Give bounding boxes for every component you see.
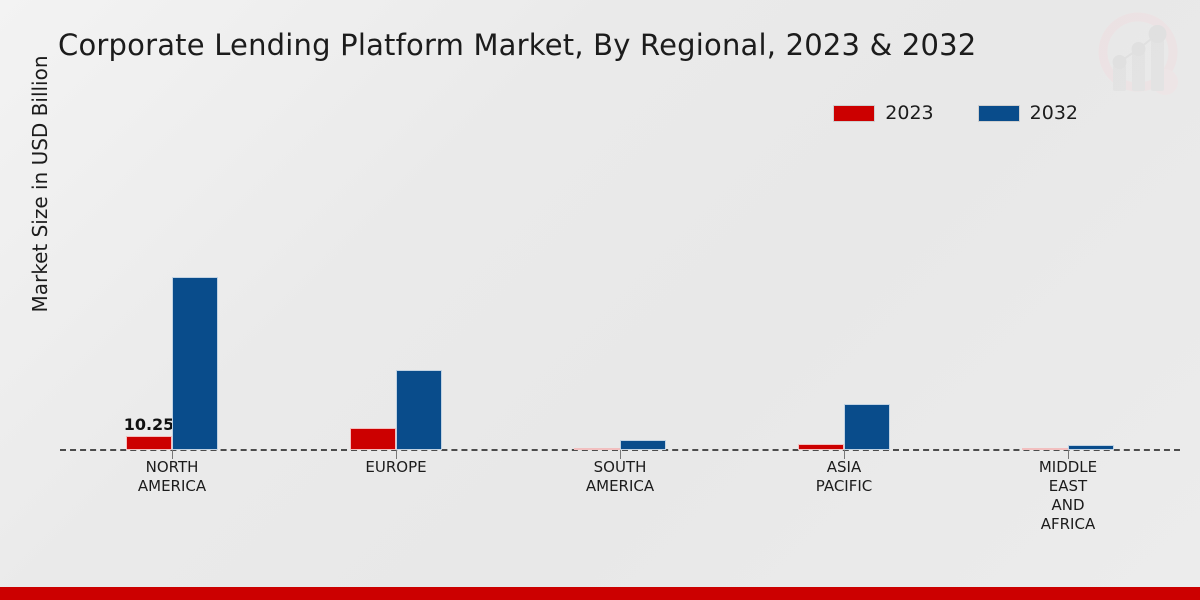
legend-swatch-2023-icon	[833, 105, 875, 122]
bar-group	[956, 160, 1180, 450]
market-research-logo-watermark	[1086, 8, 1190, 104]
bar-2023-asia-pacific[interactable]	[798, 444, 844, 450]
x-axis-label-line: AMERICA	[508, 477, 732, 496]
legend-item-2023[interactable]: 2023	[833, 102, 933, 124]
bar-group	[732, 160, 956, 450]
x-axis-label-line: EAST	[956, 477, 1180, 496]
bar-pair	[1022, 160, 1114, 450]
chart-figure: Corporate Lending Platform Market, By Re…	[0, 0, 1200, 600]
bar-2023-north-america[interactable]: 10.25	[126, 436, 172, 450]
bar-2032-asia-pacific[interactable]	[844, 404, 890, 450]
bar-group	[508, 160, 732, 450]
footer-accent-bar	[0, 587, 1200, 600]
x-axis-label-asia-pacific: ASIAPACIFIC	[732, 458, 956, 534]
legend-swatch-2032-icon	[978, 105, 1020, 122]
chart-legend: 2023 2032	[833, 102, 1078, 124]
bar-2023-europe[interactable]	[350, 428, 396, 450]
chart-title: Corporate Lending Platform Market, By Re…	[58, 28, 976, 62]
bar-2032-south-america[interactable]	[620, 440, 666, 450]
x-axis-category-labels: NORTHAMERICAEUROPESOUTHAMERICAASIAPACIFI…	[60, 458, 1180, 534]
bar-groups: 10.25	[60, 160, 1180, 450]
x-axis-label-south-america: SOUTHAMERICA	[508, 458, 732, 534]
x-axis-label-line: AFRICA	[956, 515, 1180, 534]
bar-pair	[574, 160, 666, 450]
x-axis-label-line: AND	[956, 496, 1180, 515]
bar-2023-south-america[interactable]	[574, 448, 620, 450]
bar-group: 10.25	[60, 160, 284, 450]
x-axis-label-line: PACIFIC	[732, 477, 956, 496]
x-axis-label-line: SOUTH	[508, 458, 732, 477]
x-axis-label-line: EUROPE	[284, 458, 508, 477]
legend-item-2032[interactable]: 2032	[978, 102, 1078, 124]
bar-2032-north-america[interactable]	[172, 277, 218, 450]
x-axis-label-middle-east-and-africa: MIDDLEEASTANDAFRICA	[956, 458, 1180, 534]
y-axis-title: Market Size in USD Billion	[28, 8, 52, 360]
bar-2032-europe[interactable]	[396, 370, 442, 450]
x-axis-label-north-america: NORTHAMERICA	[60, 458, 284, 534]
x-axis-label-line: MIDDLE	[956, 458, 1180, 477]
x-axis-label-line: ASIA	[732, 458, 956, 477]
plot-area: 10.25	[60, 160, 1180, 450]
bar-pair	[350, 160, 442, 450]
legend-label-2023: 2023	[885, 102, 933, 124]
x-axis-label-line: AMERICA	[60, 477, 284, 496]
bar-value-label: 10.25	[124, 415, 175, 434]
x-axis-label-line: NORTH	[60, 458, 284, 477]
bar-pair: 10.25	[126, 160, 218, 450]
legend-label-2032: 2032	[1030, 102, 1078, 124]
bar-group	[284, 160, 508, 450]
bar-pair	[798, 160, 890, 450]
x-axis-label-europe: EUROPE	[284, 458, 508, 534]
bar-2032-middle-east-and-africa[interactable]	[1068, 445, 1114, 450]
bar-2023-middle-east-and-africa[interactable]	[1022, 448, 1068, 450]
